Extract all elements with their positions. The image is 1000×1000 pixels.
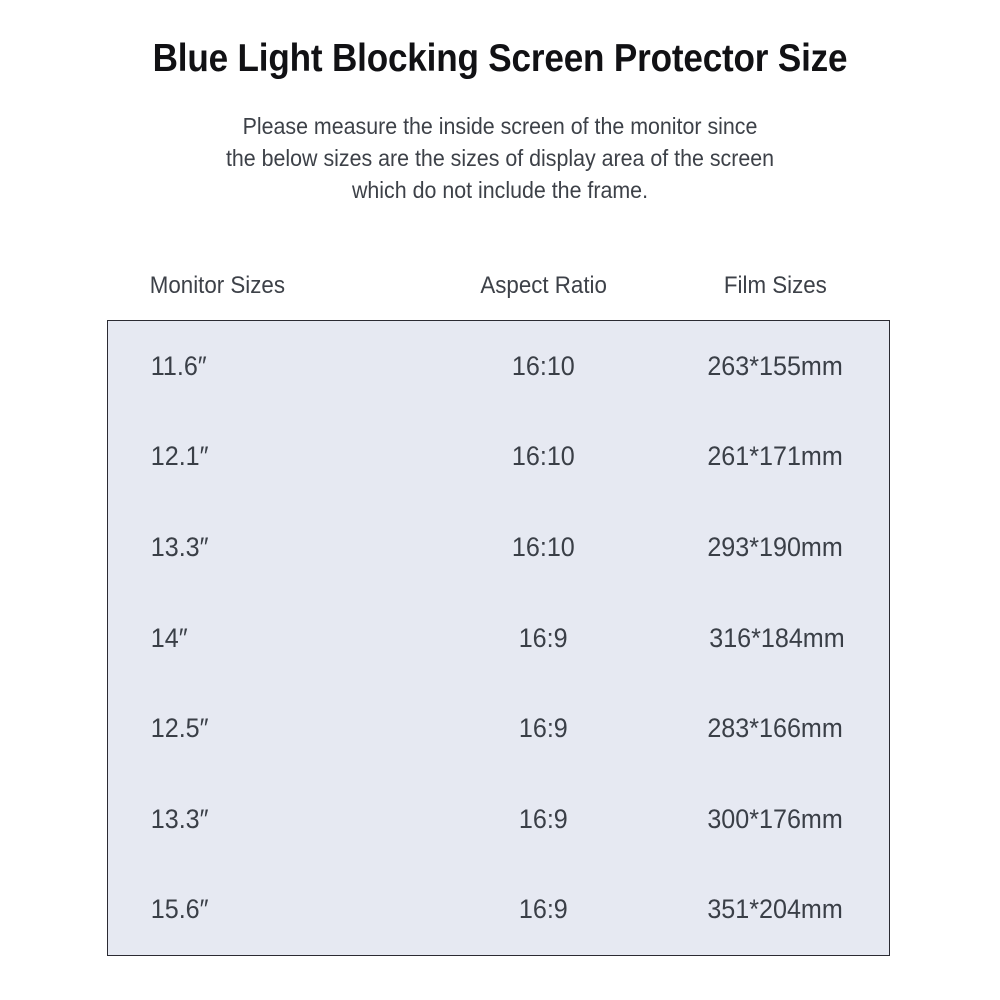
cell-monitor-size: 13.3″ xyxy=(108,532,404,563)
table-row: 15.6″ 16:9 351*204mm xyxy=(108,864,889,955)
cell-monitor-size: 12.5″ xyxy=(108,713,404,744)
cell-film-size: 351*204mm xyxy=(669,894,881,925)
table-row: 12.1″ 16:10 261*171mm xyxy=(108,412,889,503)
table-row: 11.6″ 16:10 263*155mm xyxy=(108,321,889,412)
cell-film-size: 261*171mm xyxy=(669,441,881,472)
size-table: 11.6″ 16:10 263*155mm 12.1″ 16:10 261*17… xyxy=(107,320,890,956)
cell-film-size: 316*184mm xyxy=(666,623,881,654)
cell-film-size: 283*166mm xyxy=(669,713,881,744)
cell-aspect-ratio: 16:9 xyxy=(434,894,652,925)
cell-monitor-size: 13.3″ xyxy=(108,804,404,835)
cell-film-size: 300*176mm xyxy=(669,804,881,835)
size-table-body: 11.6″ 16:10 263*155mm 12.1″ 16:10 261*17… xyxy=(108,321,889,955)
cell-aspect-ratio: 16:9 xyxy=(428,623,649,654)
cell-monitor-size: 15.6″ xyxy=(108,894,404,925)
column-header-monitor-sizes: Monitor Sizes xyxy=(107,272,404,300)
cell-aspect-ratio: 16:9 xyxy=(434,804,652,835)
cell-aspect-ratio: 16:10 xyxy=(434,532,652,563)
page-title: Blue Light Blocking Screen Protector Siz… xyxy=(50,38,950,81)
table-row: 13.3″ 16:10 293*190mm xyxy=(108,502,889,593)
column-header-aspect-ratio: Aspect Ratio xyxy=(434,272,653,300)
cell-film-size: 263*155mm xyxy=(669,351,881,382)
table-row: 14″ 16:9 316*184mm xyxy=(108,593,889,684)
subtitle-line-3: which do not include the frame. xyxy=(35,174,965,206)
cell-monitor-size: 12.1″ xyxy=(108,441,404,472)
size-chart-page: Blue Light Blocking Screen Protector Siz… xyxy=(0,0,1000,1000)
cell-film-size: 293*190mm xyxy=(669,532,881,563)
cell-aspect-ratio: 16:10 xyxy=(434,351,652,382)
cell-aspect-ratio: 16:9 xyxy=(434,713,652,744)
page-subtitle: Please measure the inside screen of the … xyxy=(35,110,965,206)
cell-aspect-ratio: 16:10 xyxy=(434,441,652,472)
column-header-film-sizes: Film Sizes xyxy=(669,272,882,300)
subtitle-line-1: Please measure the inside screen of the … xyxy=(35,110,965,142)
cell-monitor-size: 14″ xyxy=(108,623,398,654)
table-row: 12.5″ 16:9 283*166mm xyxy=(108,683,889,774)
table-row: 13.3″ 16:9 300*176mm xyxy=(108,774,889,865)
subtitle-line-2: the below sizes are the sizes of display… xyxy=(35,142,965,174)
cell-monitor-size: 11.6″ xyxy=(108,351,404,382)
table-column-headers: Monitor Sizes Aspect Ratio Film Sizes xyxy=(107,265,890,307)
